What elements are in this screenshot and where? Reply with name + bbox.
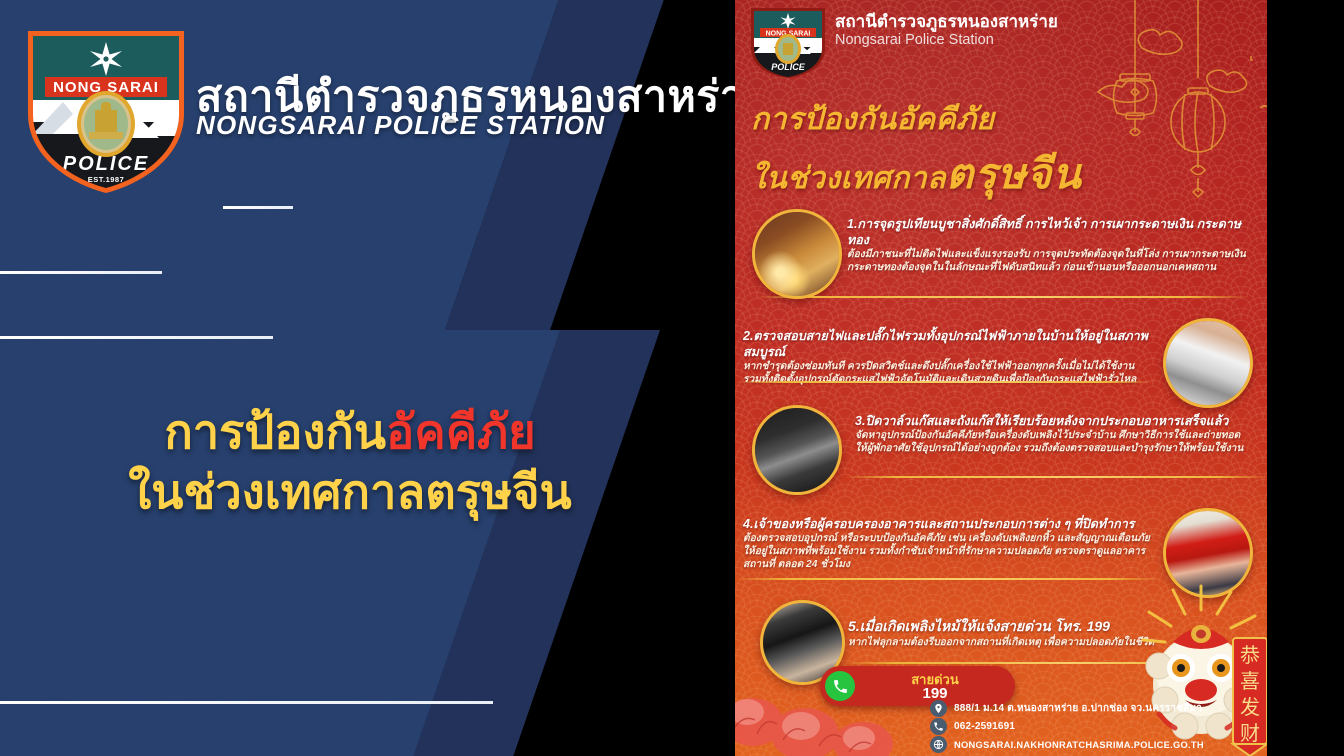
police-emblem-large: NONG SARAI POLICE EST.1987 [23, 22, 189, 194]
poster-item-2-text: 2.ตรวจสอบสายไฟและปลั๊กไฟรวมทั้งอุปกรณ์ไฟ… [743, 328, 1163, 386]
poster-title-line1: การป้องกันอัคคีภัย [751, 96, 1171, 143]
poster-header: NONG SARAI POLICE สถานีตำรวจภูธรหนองสาหร… [735, 0, 1270, 76]
contact-website: NONGSARAI.NAKHONRATCHASRIMA.POLICE.GO.TH [954, 740, 1204, 750]
globe-icon [930, 736, 947, 753]
location-pin-icon [930, 700, 947, 717]
poster-title-line2: ในช่วงเทศกาลตรุษจีน [751, 141, 1171, 207]
decorative-rule-4 [0, 701, 493, 704]
decorative-rule-3 [0, 336, 273, 339]
banner-char-3: 发 [1240, 695, 1260, 719]
police-emblem-small: NONG SARAI POLICE [749, 6, 827, 83]
thumbnail-gas-stove-burner [752, 405, 842, 495]
poster-divider-2 [735, 381, 1155, 383]
slide-title-part1: การป้องกัน [164, 405, 386, 458]
poster-item-4-lead: 4.เจ้าของหรือผู้ครอบครองอาคารและสถานประก… [743, 516, 1163, 532]
emblem-police-text: POLICE [63, 153, 149, 175]
poster-title-line2-highlight: ตรุษจีน [946, 150, 1082, 197]
poster-item-4-sub-0: ต้องตรวจสอบอุปกรณ์ หรือระบบป้องกันอัคคีภ… [743, 532, 1163, 545]
poster-item-3-sub-1: ให้ผู้พักอาศัยใช้อุปกรณ์ได้อย่างถูกต้อง … [855, 442, 1260, 455]
poster-item-3-text: 3.ปิดวาล์วแก๊สและถังแก๊สให้เรียบร้อยหลัง… [855, 413, 1260, 455]
lion-dance-decoration: 恭 喜 发 财 [1115, 580, 1270, 756]
banner-char-4: 财 [1240, 721, 1260, 745]
phone-handset-icon [930, 718, 947, 735]
poster-station-name-th: สถานีตำรวจภูธรหนองสาหร่าย [835, 8, 1058, 35]
slide-title-line2: ในช่วงเทศกาลตรุษจีน [0, 466, 700, 519]
thumbnail-electrical-plug-socket [1163, 318, 1253, 408]
poster-item-2-sub-1: รวมทั้งติดตั้งอุปกรณ์ตัดกระแสไฟฟ้าอัตโนม… [743, 373, 1163, 386]
emblem-est-text: EST.1987 [88, 175, 125, 184]
contact-address-row: 888/1 ม.14 ต.หนองสาหร่าย อ.ปากช่อง จว.นค… [930, 700, 1202, 717]
poster-divider-3 [845, 476, 1270, 478]
svg-text:POLICE: POLICE [771, 62, 806, 72]
fire-prevention-poster: NONG SARAI POLICE สถานีตำรวจภูธรหนองสาหร… [735, 0, 1270, 756]
poster-item-3-lead: 3.ปิดวาล์วแก๊สและถังแก๊สให้เรียบร้อยหลัง… [855, 413, 1260, 429]
phone-icon [825, 671, 855, 701]
poster-item-2-sub-0: หากชำรุดต้องซ่อมทันที ควรปิดสวิตช์และดึง… [743, 360, 1163, 373]
poster-item-1-text: 1.การจุดรูปเทียนบูชาสิ่งศักดิ์สิทธิ์ การ… [847, 216, 1259, 274]
poster-item-4-sub-2: สถานที่ ตลอด 24 ชั่วโมง [743, 558, 1163, 571]
contact-website-row[interactable]: NONGSARAI.NAKHONRATCHASRIMA.POLICE.GO.TH [930, 736, 1204, 753]
contact-phone: 062-2591691 [954, 721, 1015, 732]
poster-item-3-sub-0: จัดหาอุปกรณ์ป้องกันอัคคีภัยหรือเครื่องดั… [855, 429, 1260, 442]
poster-item-4-text: 4.เจ้าของหรือผู้ครอบครองอาคารและสถานประก… [743, 516, 1163, 571]
poster-title-line2-prefix: ในช่วงเทศกาล [751, 162, 946, 195]
slide-title-line1: การป้องกันอัคคีภัย [0, 406, 700, 459]
poster-item-1-lead: 1.การจุดรูปเทียนบูชาสิ่งศักดิ์สิทธิ์ การ… [847, 216, 1259, 248]
poster-item-1-sub-0: ต้องมีภาชนะที่ไม่ติดไฟและแข็งแรงรองรับ ก… [847, 248, 1259, 261]
poster-item-1-sub-1: กระดาษทองต้องจุดในในลักษณะที่ไฟดับสนิทแล… [847, 261, 1259, 274]
poster-right-edge [1267, 0, 1270, 756]
slide-canvas: NONG SARAI POLICE EST.1987 สถานีตำรวจภูธ… [0, 0, 1344, 756]
station-name-en: NONGSARAI POLICE STATION [196, 110, 605, 141]
poster-title: การป้องกันอัคคีภัย ในช่วงเทศกาลตรุษจีน [751, 96, 1171, 207]
poster-item-4-sub-1: ให้อยู่ในสภาพที่พร้อมใช้งาน รวมทั้งกำชับ… [743, 545, 1163, 558]
decorative-rule-2 [0, 271, 162, 274]
poster-station-name-en: Nongsarai Police Station [835, 32, 994, 48]
thumbnail-incense-sticks-offering [752, 209, 842, 299]
contact-phone-row[interactable]: 062-2591691 [930, 718, 1015, 735]
poster-item-2-lead: 2.ตรวจสอบสายไฟและปลั๊กไฟรวมทั้งอุปกรณ์ไฟ… [743, 328, 1163, 360]
contact-address: 888/1 ม.14 ต.หนองสาหร่าย อ.ปากช่อง จว.นค… [954, 701, 1202, 716]
poster-divider-1 [755, 296, 1250, 298]
decorative-rule-1 [223, 206, 293, 209]
banner-char-1: 恭 [1240, 643, 1260, 667]
poster-divider-4 [735, 578, 1160, 580]
slide-title-part2: อัคคีภัย [386, 405, 536, 458]
banner-char-2: 喜 [1240, 669, 1260, 693]
